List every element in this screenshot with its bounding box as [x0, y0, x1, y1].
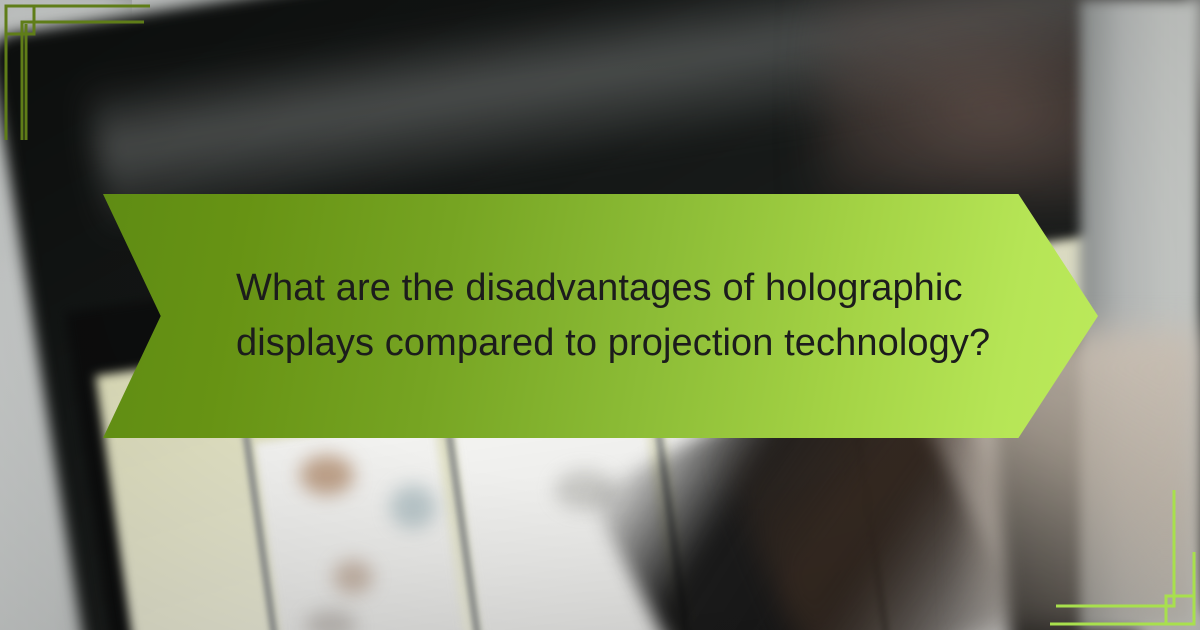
question-banner-text: What are the disadvantages of holographi… [236, 194, 996, 438]
corner-bracket-bottom-right-icon [1000, 430, 1200, 630]
question-line-2: displays compared to projection technolo… [236, 316, 990, 371]
question-line-1: What are the disadvantages of holographi… [236, 261, 963, 316]
question-banner: What are the disadvantages of holographi… [103, 194, 1098, 438]
screenshot-root: What are the disadvantages of holographi… [0, 0, 1200, 630]
corner-bracket-top-left-icon [0, 0, 200, 200]
